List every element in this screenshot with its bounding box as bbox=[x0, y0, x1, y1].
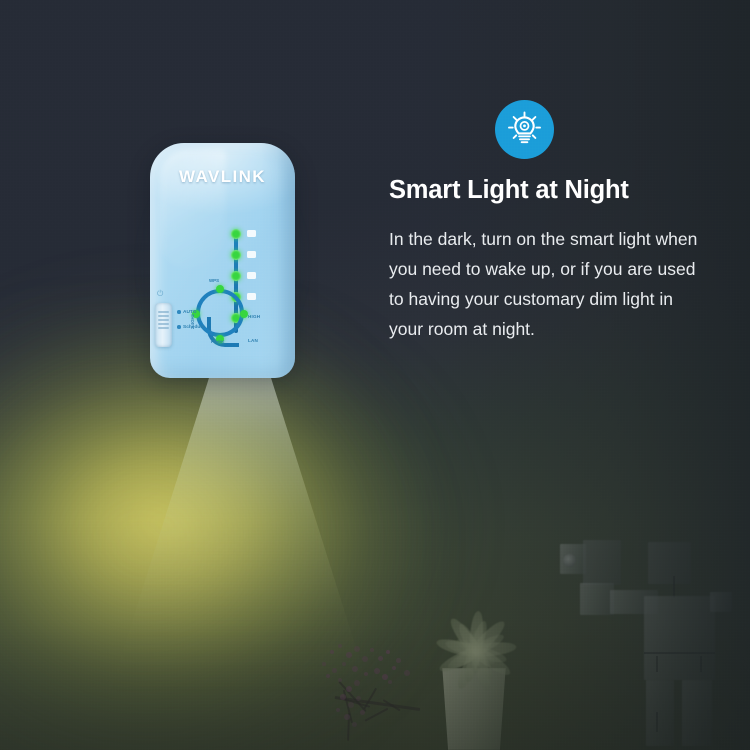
image-grain-overlay bbox=[0, 0, 750, 750]
product-banner-scene: WAVLINK HIGH LAN bbox=[0, 0, 750, 750]
